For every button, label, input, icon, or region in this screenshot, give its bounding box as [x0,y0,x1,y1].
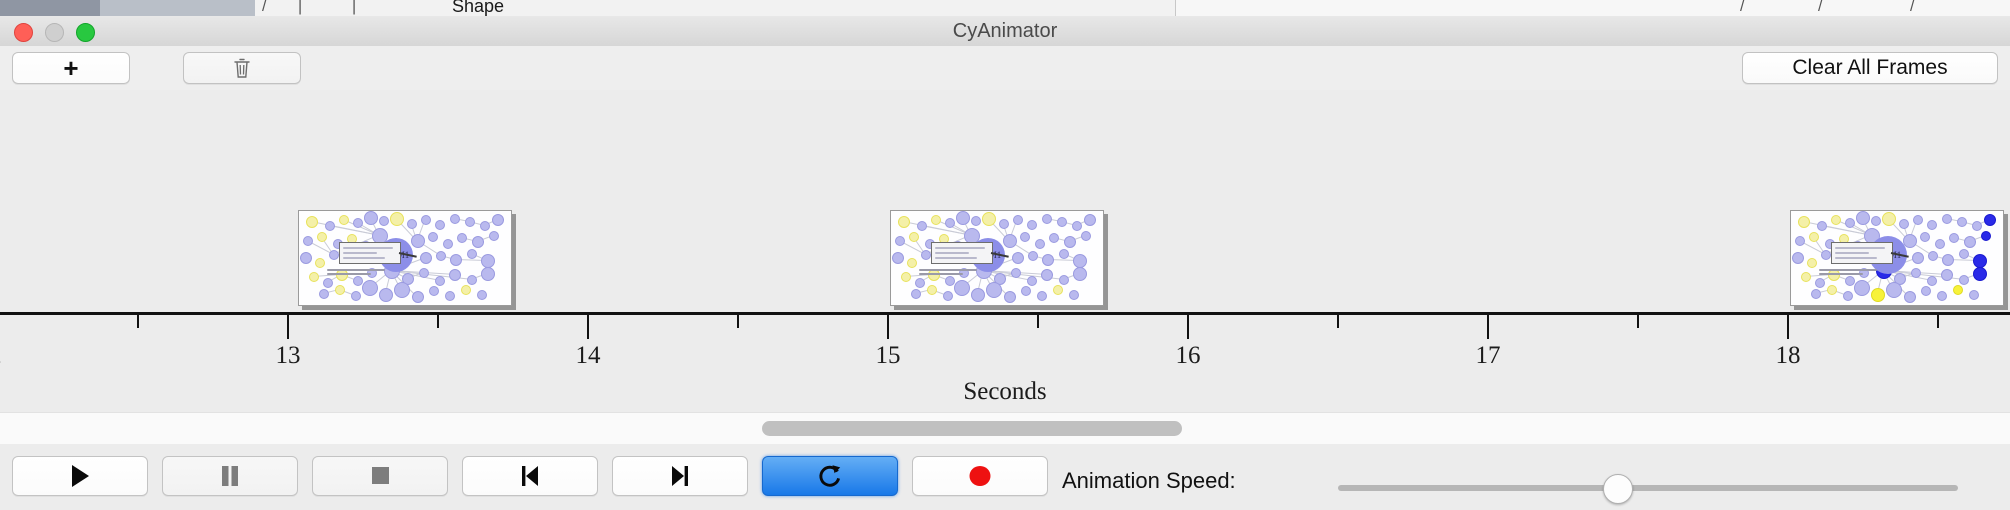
network-node [901,272,911,282]
network-node [1981,231,1991,241]
network-callout-box [339,242,401,264]
network-node [435,276,445,286]
background-column-header: Shape [452,0,504,16]
callout-text-line [935,247,985,249]
network-node [1843,291,1853,301]
network-node [412,291,424,303]
network-node [1021,286,1031,296]
skip-start-button[interactable] [462,456,598,496]
network-node [1004,291,1016,303]
network-node [351,291,361,301]
ruler-tick-major [1187,315,1189,339]
ruler-tick-major [887,315,889,339]
network-node [445,291,455,301]
network-node [1053,285,1063,295]
network-node [457,233,467,243]
network-node [477,290,487,300]
network-node [1984,214,1996,226]
timeline-frames-panel[interactable]: MCM1 MCM1 MCM1 [0,90,2010,312]
network-node [1937,291,1947,301]
network-node [443,239,453,249]
network-node [394,282,410,298]
network-node [1882,212,1896,226]
network-node [1795,236,1805,246]
network-node [1028,251,1038,261]
network-node [436,251,446,261]
ruler-tick-minor [137,315,139,328]
network-node [317,232,327,242]
ruler-tick-label: 12 [0,342,2,370]
network-node [911,289,921,299]
network-node [1057,217,1067,227]
ruler-baseline [0,312,2010,315]
network-node [1904,291,1916,303]
network-node [1807,258,1817,268]
network-node [1959,275,1969,285]
network-node [1920,232,1930,242]
stop-icon [369,464,391,488]
callout-text-line [935,252,969,254]
network-node [1011,268,1021,278]
animation-speed-slider-track[interactable] [1338,485,1958,491]
network-node [362,280,378,296]
network-node [1854,280,1870,296]
network-node [1831,215,1841,225]
network-node [1871,216,1881,226]
play-icon [68,463,92,489]
ruler-tick-major [1787,315,1789,339]
network-node [390,212,404,226]
cyanimator-window: / | | / / / Shape CyAnimator + Clear All… [0,0,2010,510]
network-node [1069,290,1079,300]
ruler-tick-label: 13 [276,342,301,370]
network-node [945,276,955,286]
network-node [1815,278,1825,288]
record-icon [967,463,993,489]
ruler-tick-major [1487,315,1489,339]
time-ruler: 12131415161718 Seconds [0,312,2010,412]
network-node [1073,254,1087,268]
skip-end-button[interactable] [612,456,748,496]
network-node [1942,214,1952,224]
animation-speed-label: Animation Speed: [1062,468,1236,494]
network-node [1964,236,1976,248]
network-node [956,211,970,225]
ruler-tick-label: 18 [1776,342,1801,370]
network-node [1084,214,1096,226]
network-node [1003,234,1017,248]
network-node [1845,218,1855,228]
network-node [1817,221,1827,231]
network-node [407,219,417,229]
network-node [1886,282,1902,298]
ruler-tick-minor [1637,315,1639,328]
network-node [909,232,919,242]
loop-icon [816,462,844,490]
animation-speed-slider-thumb[interactable] [1603,474,1633,504]
network-node [353,276,363,286]
network-thumbnail: MCM1 [891,211,1103,305]
network-node [319,289,329,299]
network-node [1921,286,1931,296]
callout-text-line [343,252,377,254]
play-button[interactable] [12,456,148,496]
ruler-tick-label: 15 [876,342,901,370]
network-node [472,236,484,248]
network-node [315,258,325,268]
add-frame-button[interactable]: + [12,52,130,84]
network-node [329,250,339,260]
network-node [428,232,438,242]
background-column [905,0,1036,16]
network-node [954,280,970,296]
network-node [1957,217,1967,227]
network-node [465,217,475,227]
network-node [1020,232,1030,242]
network-node [335,285,345,295]
pause-icon [219,463,241,489]
network-caption-line [1819,273,1863,275]
network-node [971,288,985,302]
background-column [1035,0,1176,16]
network-node [1027,276,1037,286]
network-node [411,234,425,248]
network-node [1059,249,1069,259]
network-node [481,254,495,268]
ruler-tick-minor [1937,315,1939,328]
network-node [1973,254,1987,268]
callout-text-line [343,257,385,259]
network-node [1856,211,1870,225]
network-node [420,252,432,264]
stop-button[interactable] [312,456,448,496]
ruler-tick-label: 16 [1176,342,1201,370]
network-node [467,275,477,285]
callout-text-line [343,247,393,249]
network-node [429,286,439,296]
network-node [1049,233,1059,243]
network-callout-box [931,242,993,264]
network-node [1912,252,1924,264]
keyframe-thumbnail[interactable]: MCM1 [298,210,512,306]
network-thumbnail: MCM1 [1791,211,2003,305]
background-app-strip: / | | / / / Shape [0,0,2010,16]
network-node [1845,276,1855,286]
skip-start-icon [518,463,542,489]
callout-text-line [1835,247,1885,249]
record-button[interactable] [912,456,1048,496]
network-node [1809,232,1819,242]
network-node [986,282,1002,298]
network-node [339,215,349,225]
callout-text-line [1835,257,1877,259]
network-node [1942,254,1954,266]
callout-text-line [1835,252,1869,254]
network-node [419,268,429,278]
network-node [325,221,335,231]
network-node [898,216,910,228]
network-node [309,272,319,282]
network-node [1027,220,1037,230]
ruler-tick-minor [1337,315,1339,328]
network-thumbnail: MCM1 [299,211,511,305]
network-node [1037,291,1047,301]
network-node [323,278,333,288]
network-node [915,278,925,288]
network-node [1941,269,1953,281]
network-node [461,285,471,295]
playback-toolbar: Animation Speed: [0,444,2010,510]
network-node [1059,275,1069,285]
network-callout-box [1831,242,1893,264]
network-node [480,221,490,231]
network-node [421,215,431,225]
network-node [1935,239,1945,249]
ruler-tick-major [287,315,289,339]
network-node [1035,239,1045,249]
ruler-tick-label: 17 [1476,342,1501,370]
network-node [999,219,1009,229]
network-node [481,267,495,281]
ruler-axis-label: Seconds [0,378,2010,406]
plus-icon: + [63,55,78,81]
timeline-scrollbar-thumb[interactable] [762,421,1182,436]
callout-text-line [935,257,977,259]
network-node [1911,268,1921,278]
network-node [892,252,904,264]
ruler-tick-minor [1037,315,1039,328]
network-node [971,216,981,226]
network-node [1042,214,1052,224]
network-node [1801,272,1811,282]
pause-button[interactable] [162,456,298,496]
background-titlebar-dark [0,0,100,16]
network-node [1871,288,1885,302]
keyframe-thumbnail[interactable]: MCM1 [1790,210,2004,306]
network-node [450,254,462,266]
network-node [300,252,312,264]
ruler-tick-minor [737,315,739,328]
network-node [435,220,445,230]
network-caption-line [1819,269,1877,271]
network-caption-line [327,273,371,275]
network-node [467,249,477,259]
network-node [927,285,937,295]
network-node [1013,215,1023,225]
network-node [1913,215,1923,225]
network-node [303,236,313,246]
network-node [1811,289,1821,299]
network-node [1949,233,1959,243]
network-node [306,216,318,228]
network-node [1973,267,1987,281]
network-node [492,214,504,226]
background-column [345,0,446,16]
network-node [1899,219,1909,229]
network-node [1012,252,1024,264]
network-node [1042,254,1054,266]
loop-button[interactable] [762,456,898,496]
network-node [1073,267,1087,281]
window-title: CyAnimator [0,16,2010,46]
network-node [1959,249,1969,259]
network-node [931,215,941,225]
delete-frame-button[interactable] [183,52,301,84]
network-node [449,269,461,281]
network-node [921,250,931,260]
network-node [907,258,917,268]
network-node [379,288,393,302]
network-node [895,236,905,246]
network-node [379,216,389,226]
trash-icon [232,57,252,79]
network-node [1792,252,1804,264]
network-node [489,231,499,241]
network-node [1969,290,1979,300]
network-node [1064,236,1076,248]
title-bar: CyAnimator [0,16,2010,47]
network-node [1081,231,1091,241]
network-node [1928,251,1938,261]
background-column [675,0,786,16]
network-node [1927,276,1937,286]
network-node [1072,221,1082,231]
network-node [353,218,363,228]
network-node [1927,220,1937,230]
frame-toolbar: + Clear All Frames [0,46,2010,91]
keyframe-thumbnail[interactable]: MCM1 [890,210,1104,306]
ruler-tick-label: 14 [576,342,601,370]
background-titlebar-light [100,0,255,16]
network-caption-line [919,273,963,275]
network-node [364,211,378,225]
network-node [1798,216,1810,228]
network-node [1041,269,1053,281]
ruler-tick-major [587,315,589,339]
network-node [1972,221,1982,231]
network-node [945,218,955,228]
network-node [943,291,953,301]
network-node [1827,285,1837,295]
background-column [785,0,906,16]
network-node [450,214,460,224]
network-node [917,221,927,231]
timeline-scrollbar[interactable] [0,412,2010,446]
background-column [565,0,676,16]
network-node [982,212,996,226]
network-caption-line [327,269,385,271]
clear-all-frames-button[interactable]: Clear All Frames [1742,52,1998,84]
network-node [1953,285,1963,295]
network-caption-line [919,269,977,271]
ruler-tick-minor [437,315,439,328]
network-node [1821,250,1831,260]
skip-end-icon [668,463,692,489]
